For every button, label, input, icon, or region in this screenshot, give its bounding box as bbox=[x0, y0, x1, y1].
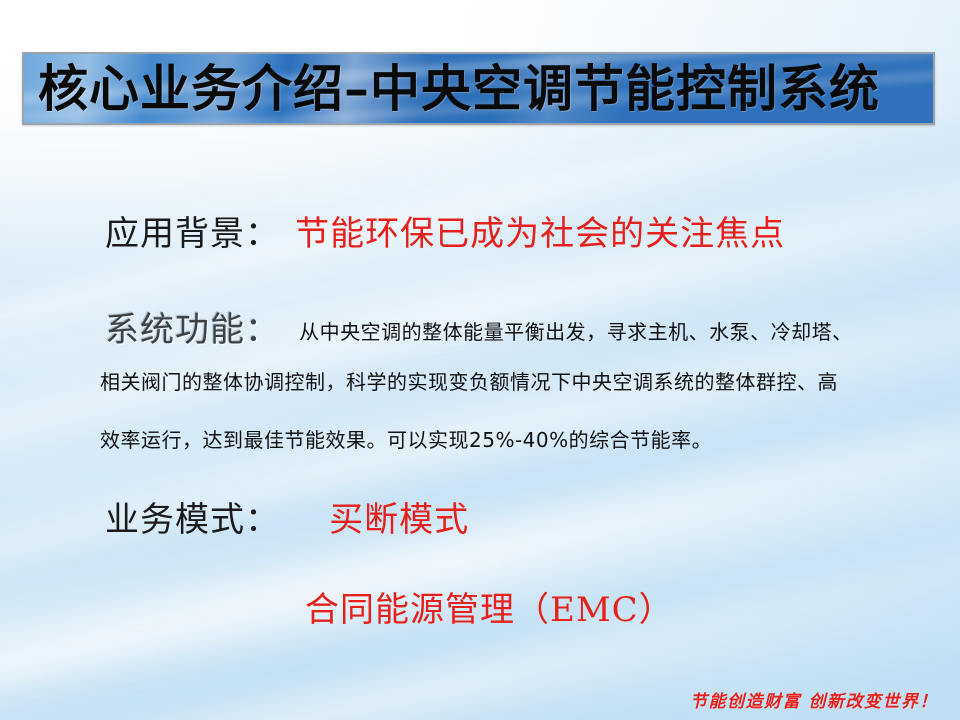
mode-value-emc: 合同能源管理（EMC） bbox=[305, 590, 674, 630]
mode-value-purchase: 买断模式 bbox=[329, 500, 469, 540]
slide-body: 应用背景： 节能环保已成为社会的关注焦点 系统功能： 从中央空调的整体能量平衡出… bbox=[0, 0, 960, 720]
section-background: 应用背景： 节能环保已成为社会的关注焦点 bbox=[105, 206, 785, 255]
function-paragraph-line-2: 相关阀门的整体协调控制，科学的实现变负额情况下中央空调系统的整体群控、高 bbox=[100, 366, 838, 395]
footer-slogan: 节能创造财富 创新改变世界！ bbox=[690, 687, 938, 712]
function-line-3: 效率运行，达到最佳节能效果。可以实现25%-40%的综合节能率。 bbox=[100, 428, 712, 452]
section-function: 系统功能： 从中央空调的整体能量平衡出发，寻求主机、水泵、冷却塔、 bbox=[105, 302, 853, 351]
function-label: 系统功能： bbox=[105, 310, 280, 350]
background-value: 节能环保已成为社会的关注焦点 bbox=[295, 214, 785, 254]
function-line-2: 相关阀门的整体协调控制，科学的实现变负额情况下中央空调系统的整体群控、高 bbox=[100, 370, 838, 394]
slide-canvas: 核心业务介绍–中央空调节能控制系统 应用背景： 节能环保已成为社会的关注焦点 系… bbox=[0, 0, 960, 720]
section-mode-emc: 合同能源管理（EMC） bbox=[305, 582, 674, 631]
mode-label: 业务模式： bbox=[105, 500, 280, 540]
background-label: 应用背景： bbox=[105, 214, 280, 254]
section-mode: 业务模式： 买断模式 bbox=[105, 492, 469, 541]
function-paragraph-line-3: 效率运行，达到最佳节能效果。可以实现25%-40%的综合节能率。 bbox=[100, 424, 712, 453]
function-line-1: 从中央空调的整体能量平衡出发，寻求主机、水泵、冷却塔、 bbox=[299, 320, 853, 344]
